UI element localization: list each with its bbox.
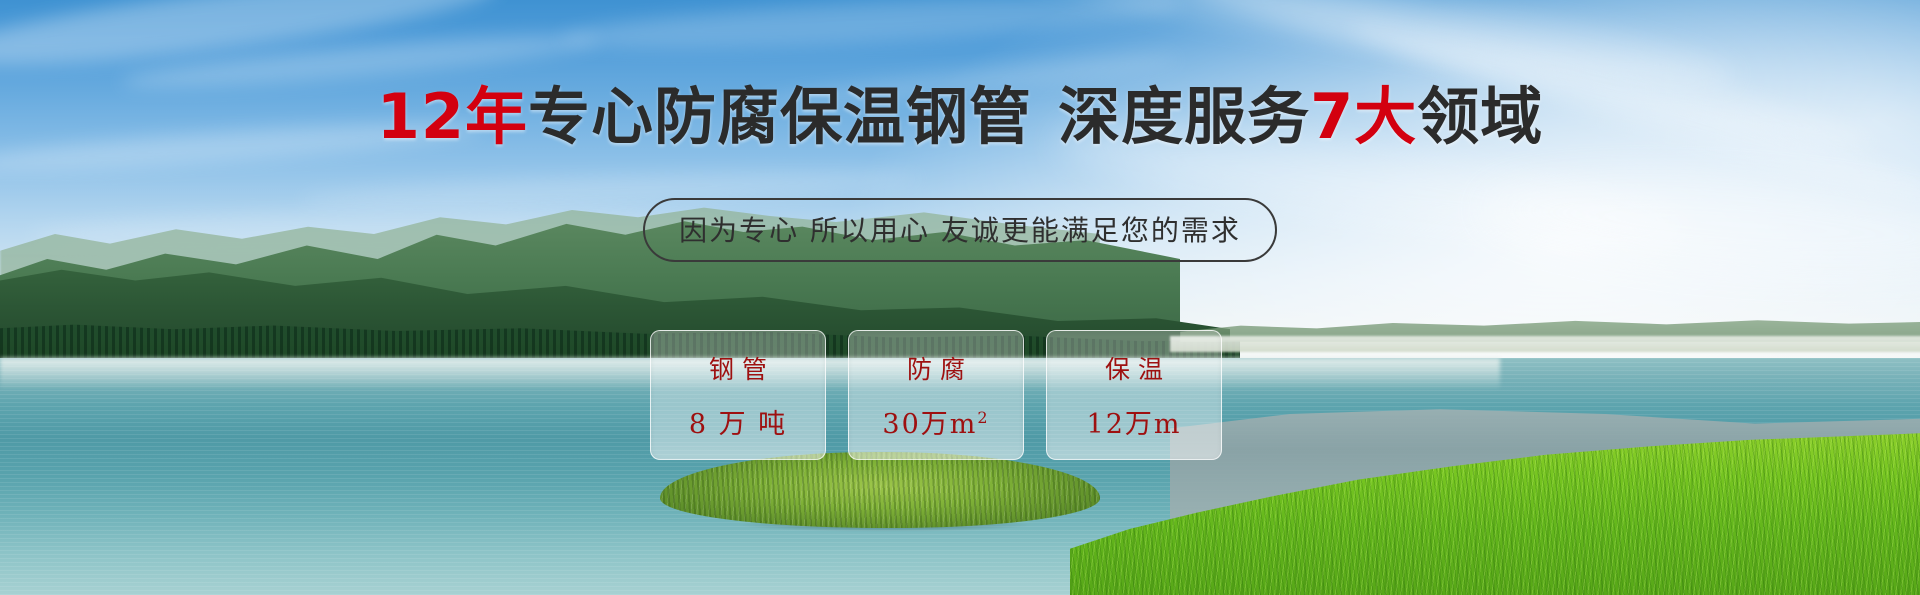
sandbar-strip (1170, 336, 1920, 352)
stat-card-value: 8 万 吨 (689, 402, 787, 441)
stat-card-steel-pipe[interactable]: 钢管 8 万 吨 (650, 330, 826, 460)
headline-text-primary: 专心防腐保温钢管 (528, 80, 1032, 153)
headline-text-tertiary: 领域 (1417, 80, 1543, 153)
stat-value-superscript: 2 (977, 408, 989, 427)
stat-card-label: 防腐 (899, 350, 973, 386)
subtitle-container: 因为专心 所以用心 友诚更能满足您的需求 (0, 198, 1920, 262)
stat-card-value: 30万m2 (882, 402, 989, 441)
stat-card-group: 钢管 8 万 吨 防腐 30万m2 保温 12万m (650, 330, 1222, 460)
hero-banner: 12年专心防腐保温钢管深度服务7大领域 因为专心 所以用心 友诚更能满足您的需求… (0, 0, 1920, 595)
stat-card-label: 保温 (1097, 350, 1171, 386)
stat-card-value: 12万m (1087, 402, 1182, 441)
page-title: 12年专心防腐保温钢管深度服务7大领域 (0, 86, 1920, 148)
stat-value-text: 30万m (882, 409, 977, 440)
stat-value-text: 8 万 吨 (689, 409, 787, 440)
stat-card-insulation[interactable]: 保温 12万m (1046, 330, 1222, 460)
headline-text-secondary: 深度服务 (1058, 80, 1310, 153)
stat-card-anticorrosion[interactable]: 防腐 30万m2 (848, 330, 1024, 460)
stat-value-text: 12万m (1087, 409, 1182, 440)
headline-accent-fields: 7大 (1310, 80, 1417, 153)
stat-card-label: 钢管 (701, 350, 775, 386)
headline-accent-years: 12年 (377, 80, 528, 153)
subtitle-pill: 因为专心 所以用心 友诚更能满足您的需求 (643, 198, 1277, 262)
